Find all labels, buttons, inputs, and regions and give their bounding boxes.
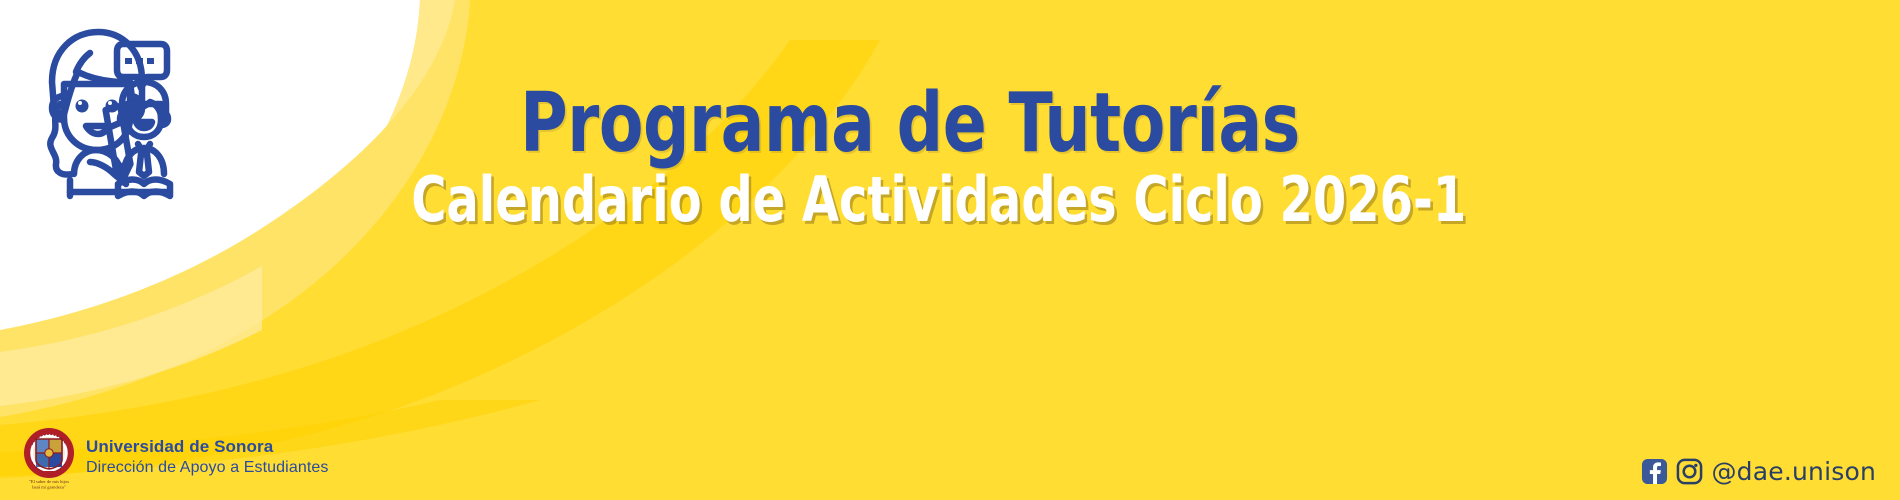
institution-name: Universidad de Sonora — [86, 437, 328, 458]
tutor-eye-right-glint — [108, 101, 112, 105]
seal-center-emblem — [45, 449, 53, 457]
seal-motto-line-2: hará mi grandeza" — [32, 485, 66, 490]
speech-dot-3 — [147, 58, 154, 64]
instagram-flash-dot — [1695, 464, 1698, 467]
speech-dot-2 — [136, 58, 143, 64]
student-smile — [136, 122, 152, 128]
tutor-smile — [86, 126, 108, 134]
footer-text-group: Universidad de Sonora Dirección de Apoyo… — [86, 437, 328, 481]
tutor-hair-bang — [76, 53, 90, 72]
seal-year-plate — [44, 471, 54, 475]
page-subtitle: Calendario de Actividades Ciclo 2026-1 — [411, 168, 1409, 231]
tutor-eye-left — [76, 100, 89, 113]
instagram-lens — [1684, 466, 1696, 478]
department-name: Dirección de Apoyo a Estudiantes — [86, 458, 328, 478]
page-title: Programa de Tutorías — [400, 84, 1421, 164]
student-tie — [139, 154, 149, 176]
footer-institution-group: "El saber de mis hijos hará mi grandeza"… — [22, 426, 328, 492]
tutor-eye-left-glint — [78, 101, 82, 105]
headline-block: Programa de Tutorías Calendario de Activ… — [330, 84, 1490, 232]
universidad-de-sonora-seal: "El saber de mis hijos hará mi grandeza" — [22, 426, 76, 492]
instagram-frame — [1678, 460, 1701, 483]
social-handle-text[interactable]: @dae.unison — [1711, 457, 1876, 486]
speech-dot-1 — [125, 58, 132, 64]
social-links-group: @dae.unison — [1641, 457, 1876, 486]
facebook-icon[interactable] — [1641, 458, 1668, 485]
tutoring-program-banner: Programa de Tutorías Calendario de Activ… — [0, 0, 1900, 500]
tutor-and-student-icon — [30, 22, 230, 207]
instagram-icon[interactable] — [1676, 458, 1703, 485]
seal-motto-line-1: "El saber de mis hijos — [29, 479, 69, 484]
open-book — [118, 180, 170, 197]
decorative-swoosh-background — [0, 0, 1900, 500]
